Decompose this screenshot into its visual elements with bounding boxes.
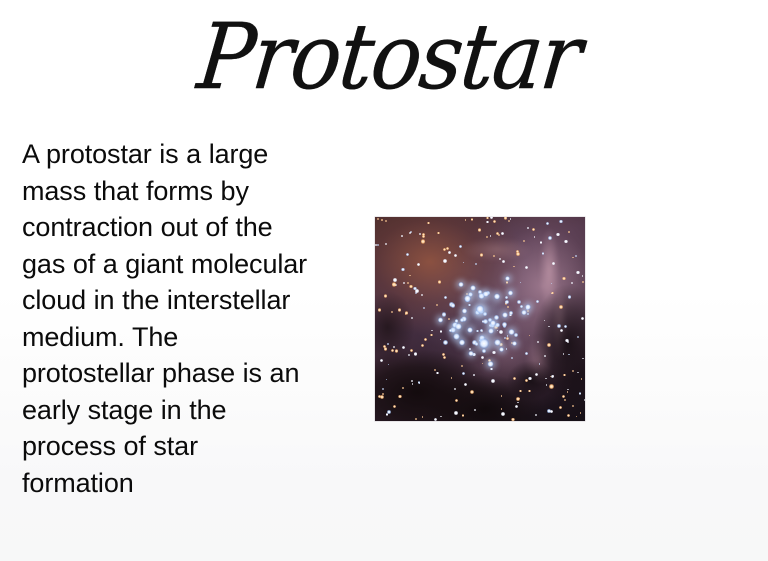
star-point [490, 235, 492, 237]
star-point [490, 217, 493, 219]
star-point [564, 325, 568, 329]
star-point [478, 290, 482, 294]
star-point [431, 330, 433, 332]
star-point [438, 280, 441, 283]
star-point [525, 266, 528, 269]
star-point [406, 253, 409, 256]
star-point [421, 239, 425, 243]
star-point [564, 240, 568, 244]
star-point [567, 341, 569, 343]
star-point [568, 354, 570, 356]
star-point [468, 304, 470, 306]
star-point [443, 259, 447, 263]
star-point [549, 384, 553, 388]
star-point [384, 347, 388, 351]
star-point [572, 257, 573, 258]
star-point [501, 408, 502, 409]
star-point [513, 266, 514, 267]
star-point [536, 300, 539, 303]
star-point [544, 320, 545, 321]
star-point [493, 255, 495, 257]
star-point [438, 317, 443, 322]
star-point [388, 364, 389, 365]
star-point [474, 409, 476, 411]
star-point [488, 328, 494, 334]
star-point [550, 410, 553, 413]
star-point [411, 317, 413, 319]
star-point [464, 295, 471, 302]
star-point [407, 282, 409, 284]
star-point [508, 329, 514, 335]
star-point [381, 219, 382, 220]
star-point [451, 377, 452, 378]
starfield-layer [375, 217, 585, 421]
star-point [525, 379, 528, 382]
star-point [494, 315, 499, 320]
star-point [511, 357, 513, 359]
star-point [528, 390, 531, 393]
star-point [402, 346, 406, 350]
star-point [511, 418, 515, 421]
star-point [393, 346, 395, 348]
star-point [520, 305, 523, 308]
star-point [385, 220, 387, 222]
star-point [560, 329, 563, 332]
star-point [483, 312, 487, 316]
star-point [567, 414, 570, 417]
star-point [498, 234, 500, 236]
star-point [548, 236, 552, 240]
star-cluster-nebula-image [375, 217, 585, 421]
star-point [497, 330, 498, 331]
star-point [417, 263, 420, 266]
star-point [535, 373, 538, 376]
star-point [505, 300, 509, 304]
star-point [408, 354, 410, 356]
star-point [446, 247, 449, 250]
star-point [468, 351, 474, 357]
star-point [455, 319, 458, 322]
star-point [491, 379, 495, 383]
star-point [483, 291, 489, 297]
star-point [499, 347, 504, 352]
star-point [413, 287, 417, 291]
star-point [463, 262, 464, 263]
star-point [391, 311, 393, 313]
star-point [385, 243, 387, 245]
star-point [459, 339, 466, 346]
star-point [537, 341, 539, 343]
star-point [506, 348, 507, 349]
star-point [476, 305, 484, 313]
star-point [527, 227, 529, 229]
presentation-slide: Protostar A protostar is a large mass th… [0, 0, 768, 561]
star-point [564, 399, 566, 401]
star-point [471, 218, 473, 220]
star-point [410, 349, 413, 352]
star-point [405, 311, 409, 315]
star-point [506, 337, 508, 339]
star-point [546, 384, 547, 385]
star-point [461, 365, 463, 367]
star-point [462, 414, 465, 417]
star-point [440, 416, 442, 418]
star-point [568, 295, 572, 299]
star-point [427, 222, 429, 224]
star-point [393, 405, 396, 408]
star-point [443, 356, 446, 359]
star-point [495, 323, 499, 327]
star-point [532, 228, 535, 231]
star-point [423, 307, 425, 309]
star-point [567, 391, 568, 392]
star-point [419, 233, 421, 235]
star-point [534, 236, 536, 238]
star-point [476, 330, 479, 333]
star-point [520, 282, 522, 284]
star-point [442, 312, 446, 316]
star-point [424, 338, 427, 341]
star-point [516, 397, 519, 400]
star-point [422, 416, 424, 418]
star-point [482, 363, 483, 364]
star-point [567, 389, 568, 390]
star-point [401, 235, 403, 237]
star-point [523, 240, 525, 242]
star-point [479, 338, 489, 348]
star-point [411, 380, 413, 382]
star-point [395, 349, 398, 352]
star-point [469, 348, 471, 350]
star-point [409, 275, 411, 277]
star-point [505, 296, 509, 300]
star-point [493, 220, 496, 223]
star-point [436, 372, 439, 375]
star-point [412, 383, 414, 385]
star-point [448, 251, 451, 254]
star-point [580, 412, 582, 414]
slide-title-container: Protostar [0, 18, 768, 102]
star-point [559, 220, 563, 224]
star-point [576, 271, 579, 274]
star-point [440, 330, 442, 332]
star-point [377, 244, 379, 246]
star-point [470, 285, 476, 291]
star-point [527, 310, 529, 312]
star-point [563, 353, 564, 354]
star-point [475, 342, 478, 345]
star-point [482, 349, 486, 353]
star-point [572, 370, 574, 372]
star-point [454, 388, 457, 391]
star-point [525, 352, 528, 355]
star-point [512, 341, 518, 347]
star-point [478, 228, 482, 232]
star-point [501, 395, 502, 396]
star-point [462, 308, 468, 314]
star-point [380, 359, 383, 362]
star-point [504, 217, 508, 220]
star-point [486, 221, 489, 224]
star-point [387, 343, 389, 345]
star-point [552, 375, 553, 376]
star-point [402, 387, 404, 389]
star-point [519, 390, 521, 392]
star-point [551, 292, 553, 294]
star-point [386, 413, 389, 416]
star-point [455, 323, 462, 330]
star-point [421, 344, 424, 347]
star-point [559, 406, 562, 409]
star-point [392, 282, 397, 287]
star-point [576, 416, 577, 417]
star-point [542, 252, 545, 255]
star-point [440, 339, 442, 341]
star-point [415, 418, 417, 420]
star-point [562, 395, 565, 398]
star-point [516, 252, 520, 256]
star-point [443, 340, 448, 345]
star-point [403, 282, 405, 284]
star-point [556, 233, 560, 237]
star-point [527, 313, 530, 316]
star-point [559, 305, 562, 308]
star-point [453, 333, 460, 340]
star-point [462, 372, 465, 375]
star-point [539, 363, 541, 365]
star-point [535, 414, 537, 416]
star-point [582, 358, 584, 360]
star-point [377, 218, 379, 220]
star-point [582, 281, 584, 283]
star-point [380, 395, 384, 399]
star-point [514, 333, 518, 337]
star-point [577, 372, 578, 373]
star-point [430, 334, 432, 336]
star-point [382, 388, 384, 390]
star-point [572, 405, 574, 407]
star-point [544, 355, 546, 357]
star-point [448, 318, 450, 320]
star-point [401, 268, 404, 271]
star-point [548, 326, 549, 327]
star-point [557, 324, 560, 327]
star-point [451, 303, 456, 308]
star-point [480, 253, 483, 256]
star-point [501, 412, 505, 416]
star-point [470, 390, 474, 394]
star-point [505, 276, 510, 281]
star-point [517, 402, 518, 403]
star-point [434, 369, 436, 371]
star-point [486, 217, 489, 219]
star-point [436, 304, 438, 306]
slide-body-text: A protostar is a large mass that forms b… [22, 136, 314, 501]
star-point [582, 275, 584, 277]
star-point [467, 327, 473, 333]
star-point [502, 260, 505, 263]
star-point [473, 374, 475, 376]
star-point [508, 290, 513, 295]
star-point [509, 311, 513, 315]
star-point [475, 263, 477, 265]
star-point [525, 304, 531, 310]
star-point [528, 377, 532, 381]
star-point [563, 374, 566, 377]
star-point [398, 395, 402, 399]
star-point [398, 308, 402, 312]
star-point [444, 296, 446, 298]
star-point [490, 368, 493, 371]
star-point [384, 294, 387, 297]
star-point [464, 383, 467, 386]
star-point [577, 336, 579, 338]
star-point [552, 262, 555, 265]
star-point [579, 392, 581, 394]
star-point [540, 241, 542, 243]
star-point [458, 282, 463, 287]
star-point [529, 335, 531, 337]
star-point [562, 277, 565, 280]
star-point [454, 411, 457, 414]
star-point [581, 317, 584, 320]
star-point [499, 330, 503, 334]
star-point [465, 219, 466, 220]
star-point [547, 343, 551, 347]
star-point [454, 254, 458, 258]
star-point [521, 310, 526, 315]
star-point [545, 378, 546, 379]
star-point [515, 405, 518, 408]
star-point [459, 245, 462, 248]
star-point [490, 320, 496, 326]
star-point [568, 231, 570, 233]
star-point [492, 351, 495, 354]
star-point [487, 361, 493, 367]
star-point [507, 306, 509, 308]
page-title: Protostar [188, 11, 590, 102]
star-point [502, 322, 507, 327]
star-point [513, 377, 516, 380]
star-point [508, 220, 510, 222]
star-point [551, 283, 552, 284]
star-point [437, 232, 439, 234]
star-point [506, 281, 509, 284]
star-point [434, 418, 437, 421]
star-point [414, 352, 417, 355]
star-point [386, 379, 387, 380]
star-point [391, 349, 394, 352]
star-point [584, 399, 585, 401]
star-point [409, 285, 412, 288]
star-point [499, 258, 501, 260]
star-point [502, 312, 508, 318]
star-point [494, 293, 501, 300]
star-point [481, 356, 484, 359]
star-point [455, 399, 458, 402]
star-point [571, 282, 573, 284]
star-point [575, 255, 577, 257]
star-point [418, 381, 421, 384]
star-point [510, 218, 512, 220]
star-point [546, 222, 549, 225]
star-point [421, 294, 423, 296]
star-point [486, 236, 488, 238]
star-point [517, 300, 521, 304]
star-point [378, 308, 381, 311]
star-point [581, 378, 583, 380]
star-point [501, 232, 504, 235]
